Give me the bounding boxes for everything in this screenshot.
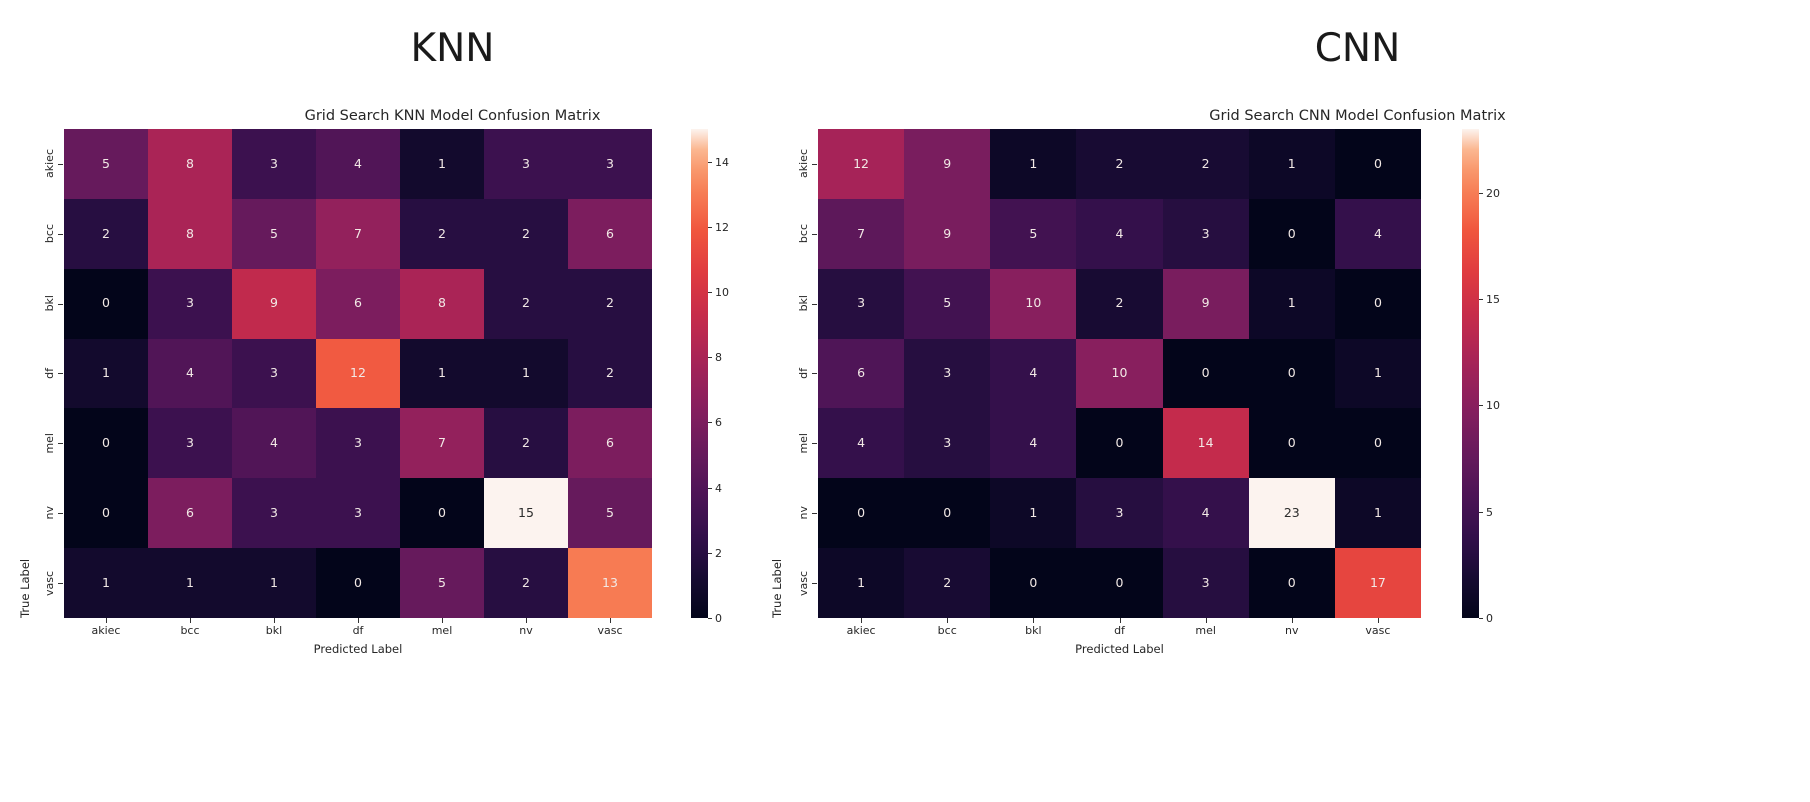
y-tick-label: vasc	[43, 571, 56, 596]
x-tick-label-nv: nv	[484, 624, 568, 637]
colorbar-tick-label: 15	[1486, 293, 1500, 306]
colorbar-tick-mark	[708, 292, 712, 293]
heatmap-cell: 15	[484, 478, 568, 548]
heatmap-cell-value: 1	[1288, 297, 1296, 310]
heatmap-cell-value: 4	[1374, 228, 1382, 241]
heatmap-cell-value: 6	[186, 507, 194, 520]
panel-heading-knn: KNN	[0, 26, 905, 71]
heatmap-cell: 2	[484, 199, 568, 269]
heatmap-cell: 0	[1335, 269, 1421, 339]
heatmap-cell-value: 3	[186, 437, 194, 450]
heatmap-cell: 3	[484, 129, 568, 199]
colorbar-tick: 4	[708, 482, 722, 495]
colorbar-tick: 20	[1479, 187, 1500, 200]
heatmap-cell-value: 2	[1116, 158, 1124, 171]
x-tick-mark	[358, 618, 359, 623]
heatmap-cell-value: 3	[943, 437, 951, 450]
x-tick-label-df: df	[1076, 624, 1162, 637]
heatmap-cell-value: 9	[943, 228, 951, 241]
heatmap-cell-value: 2	[438, 228, 446, 241]
x-tick-mark	[861, 618, 862, 623]
heatmap-cell-value: 2	[943, 577, 951, 590]
heatmap-cell-value: 2	[522, 577, 530, 590]
colorbar-tick-label: 20	[1486, 187, 1500, 200]
heatmap-cell: 3	[148, 269, 232, 339]
heatmap-cell-value: 9	[1202, 297, 1210, 310]
heatmap-cell-value: 7	[857, 228, 865, 241]
heatmap-cell: 3	[1163, 199, 1249, 269]
y-tick-label: bcc	[43, 224, 56, 243]
heatmap-cell: 0	[316, 548, 400, 618]
heatmap-cell-value: 1	[1029, 507, 1037, 520]
x-tick-mark	[442, 618, 443, 623]
heatmap-cell: 3	[1163, 548, 1249, 618]
colorbar-tick-label: 0	[715, 612, 722, 625]
heatmap-cell-value: 2	[522, 437, 530, 450]
heatmap-cell-value: 4	[270, 437, 278, 450]
colorbar-tick-label: 0	[1486, 612, 1493, 625]
heatmap-cell: 3	[904, 408, 990, 478]
colorbar-tick-mark	[1479, 193, 1483, 194]
x-tick-label-vasc: vasc	[568, 624, 652, 637]
heatmap-cell-value: 23	[1284, 507, 1300, 520]
heatmap-cell-value: 8	[186, 158, 194, 171]
heatmap-cell: 3	[818, 269, 904, 339]
heatmap-cell: 0	[990, 548, 1076, 618]
heatmap-cell-value: 0	[1374, 297, 1382, 310]
heatmap-cell: 1	[990, 129, 1076, 199]
heatmap-cell: 1	[1335, 339, 1421, 409]
heatmap-cell-value: 8	[186, 228, 194, 241]
heatmap-cell: 2	[400, 199, 484, 269]
heatmap-cell-value: 1	[1374, 507, 1382, 520]
heatmap-cell-value: 2	[102, 228, 110, 241]
heatmap-cell: 1	[64, 548, 148, 618]
heatmap-cell-value: 1	[102, 577, 110, 590]
heatmap-cell-value: 5	[943, 297, 951, 310]
heatmap-cell-value: 0	[1288, 577, 1296, 590]
colorbar-tick-label: 10	[715, 286, 729, 299]
heatmap-cell: 7	[818, 199, 904, 269]
heatmap-cell-value: 6	[606, 437, 614, 450]
heatmap-cell-value: 8	[438, 297, 446, 310]
heatmap-cell: 9	[1163, 269, 1249, 339]
colorbar-knn: 02468101214	[691, 129, 708, 618]
heatmap-cell: 4	[232, 408, 316, 478]
heatmap-cell-value: 6	[857, 367, 865, 380]
y-tick-label: akiec	[43, 149, 56, 178]
heatmap-cell-value: 5	[270, 228, 278, 241]
heatmap-cell: 13	[568, 548, 652, 618]
heatmap-cell: 8	[400, 269, 484, 339]
x-tick-label-mel: mel	[400, 624, 484, 637]
panel-heading-cnn: CNN	[905, 26, 1810, 71]
heatmap-cell-value: 0	[1288, 228, 1296, 241]
colorbar-tick-label: 8	[715, 351, 722, 364]
y-tick-mark	[58, 234, 63, 235]
heatmap-cell-value: 3	[270, 507, 278, 520]
heatmap-cell: 6	[316, 269, 400, 339]
heatmap-cell: 10	[990, 269, 1076, 339]
x-tick-label-df: df	[316, 624, 400, 637]
heatmap-cell-value: 6	[606, 228, 614, 241]
y-tick-label: nv	[43, 506, 56, 519]
heatmap-cell: 4	[316, 129, 400, 199]
heatmap-cell-value: 10	[1112, 367, 1128, 380]
heatmap-cell-value: 6	[354, 297, 362, 310]
colorbar-tick-mark	[1479, 512, 1483, 513]
x-tick-mark	[526, 618, 527, 623]
colorbar-tick: 10	[708, 286, 729, 299]
heatmap-cell: 9	[904, 129, 990, 199]
colorbar-tick-mark	[708, 357, 712, 358]
heatmap-cell-value: 12	[853, 158, 869, 171]
colorbar-tick: 2	[708, 547, 722, 560]
heatmap-cell: 0	[1076, 548, 1162, 618]
heatmap-cell: 4	[990, 339, 1076, 409]
heatmap-cell-value: 3	[1202, 228, 1210, 241]
heatmap-cell: 8	[148, 199, 232, 269]
heatmap-cell-value: 1	[1374, 367, 1382, 380]
heatmap-cell: 3	[316, 408, 400, 478]
heatmap-cell: 3	[904, 339, 990, 409]
heatmap-cell: 4	[1335, 199, 1421, 269]
heatmap-cell-value: 9	[270, 297, 278, 310]
heatmap-cell-value: 10	[1025, 297, 1041, 310]
heatmap-cell-value: 1	[1288, 158, 1296, 171]
heatmap-cell: 17	[1335, 548, 1421, 618]
heatmap-cell: 0	[1335, 129, 1421, 199]
heatmap-cell: 1	[400, 339, 484, 409]
colorbar-tick-label: 4	[715, 482, 722, 495]
heatmap-cell: 23	[1249, 478, 1335, 548]
x-tick-label-bcc: bcc	[904, 624, 990, 637]
x-tick-mark	[190, 618, 191, 623]
colorbar-tick-label: 5	[1486, 506, 1493, 519]
heatmap-cell: 2	[484, 548, 568, 618]
heatmap-cell: 5	[990, 199, 1076, 269]
heatmap-cell: 2	[568, 269, 652, 339]
heatmap-cell: 3	[232, 129, 316, 199]
heatmap-cell-value: 4	[1029, 367, 1037, 380]
heatmap-cell: 0	[1335, 408, 1421, 478]
y-tick-mark	[58, 304, 63, 305]
heatmap-cell: 3	[232, 339, 316, 409]
heatmap-cell: 12	[316, 339, 400, 409]
colorbar-tick-mark	[1479, 299, 1483, 300]
colorbar-tick: 5	[1479, 506, 1493, 519]
heatmap-cell-value: 3	[354, 507, 362, 520]
heatmap-cell-value: 4	[354, 158, 362, 171]
heatmap-cell: 6	[568, 408, 652, 478]
heatmap-cell: 4	[1163, 478, 1249, 548]
x-tick-label-akiec: akiec	[64, 624, 148, 637]
colorbar-tick-mark	[708, 227, 712, 228]
heatmap-cell: 2	[1076, 269, 1162, 339]
heatmap-cell-value: 0	[943, 507, 951, 520]
colorbar-tick-mark	[708, 422, 712, 423]
y-tick-label: bkl	[43, 295, 56, 311]
heatmap-cell-value: 2	[522, 228, 530, 241]
colorbar-tick-mark	[708, 162, 712, 163]
heatmap-cell-value: 0	[857, 507, 865, 520]
x-tick-label-nv: nv	[1249, 624, 1335, 637]
heatmap-cell: 3	[1076, 478, 1162, 548]
heatmap-cell-value: 4	[1029, 437, 1037, 450]
colorbar-tick: 14	[708, 156, 729, 169]
heatmap-cell-value: 3	[522, 158, 530, 171]
heatmap-cell-value: 0	[1202, 367, 1210, 380]
heatmap-cell: 2	[1163, 129, 1249, 199]
colorbar-tick-label: 2	[715, 547, 722, 560]
y-tick-label: mel	[43, 433, 56, 454]
heatmap-cell-value: 0	[1116, 577, 1124, 590]
heatmap-cell-value: 2	[606, 297, 614, 310]
heatmap-cell-value: 7	[438, 437, 446, 450]
heatmap-cell: 4	[990, 408, 1076, 478]
heatmap-cell-value: 0	[102, 507, 110, 520]
colorbar-tick-mark	[1479, 618, 1483, 619]
heatmap-cell: 0	[818, 478, 904, 548]
x-axis-title-cnn: Predicted Label	[818, 642, 1421, 656]
heatmap-cell-value: 0	[1029, 577, 1037, 590]
heatmap-cell-value: 1	[1029, 158, 1037, 171]
colorbar-tick-mark	[708, 488, 712, 489]
heatmap-cell: 0	[64, 269, 148, 339]
colorbar-tick: 12	[708, 221, 729, 234]
heatmap-cell: 1	[1335, 478, 1421, 548]
heatmap-cell: 2	[64, 199, 148, 269]
heatmap-cell-value: 1	[438, 367, 446, 380]
colorbar-tick-label: 14	[715, 156, 729, 169]
heatmap-cell: 2	[1076, 129, 1162, 199]
heatmap-cell-value: 4	[857, 437, 865, 450]
heatmap-cell: 10	[1076, 339, 1162, 409]
plot-title-knn: Grid Search KNN Model Confusion Matrix	[0, 108, 905, 124]
x-tick-mark	[106, 618, 107, 623]
heatmap-cell-value: 2	[522, 297, 530, 310]
colorbar-cnn: 05101520	[1462, 129, 1479, 618]
heatmap-cell-value: 0	[1288, 367, 1296, 380]
colorbar-tick-label: 10	[1486, 399, 1500, 412]
x-tick-mark	[1378, 618, 1379, 623]
x-tick-label-mel: mel	[1163, 624, 1249, 637]
heatmap-cell-value: 17	[1370, 577, 1386, 590]
heatmap-cell: 4	[818, 408, 904, 478]
heatmap-cell-value: 4	[186, 367, 194, 380]
heatmap-cell: 5	[568, 478, 652, 548]
heatmap-cell-value: 0	[1288, 437, 1296, 450]
y-tick-mark	[58, 164, 63, 165]
heatmap-cell: 0	[400, 478, 484, 548]
heatmap-cell: 5	[904, 269, 990, 339]
heatmap-cell: 2	[484, 408, 568, 478]
heatmap-cell-value: 2	[1202, 158, 1210, 171]
heatmap-cell-value: 1	[522, 367, 530, 380]
colorbar-tick-mark	[708, 618, 712, 619]
heatmap-cell-value: 3	[270, 367, 278, 380]
heatmap-cell: 0	[1249, 199, 1335, 269]
heatmap-cell: 0	[1249, 408, 1335, 478]
heatmap-cell-value: 12	[350, 367, 366, 380]
heatmap-cell-value: 1	[102, 367, 110, 380]
heatmap-cell: 5	[232, 199, 316, 269]
y-tick-mark	[58, 373, 63, 374]
heatmap-cell: 1	[990, 478, 1076, 548]
colorbar-tick: 0	[1479, 612, 1493, 625]
heatmap-cell: 4	[1076, 199, 1162, 269]
heatmap-cell: 12	[818, 129, 904, 199]
heatmap-cell: 2	[484, 269, 568, 339]
heatmap-cell: 8	[148, 129, 232, 199]
y-axis-title-cnn: True Label	[770, 129, 784, 618]
y-tick-label: df	[43, 368, 56, 379]
heatmap-cell: 0	[904, 478, 990, 548]
heatmap-knn: akiecbccbkldfmelnvvasc akiecbccbkldfmeln…	[64, 129, 652, 618]
heatmap-cell-value: 0	[102, 437, 110, 450]
heatmap-cell: 0	[1076, 408, 1162, 478]
x-tick-mark	[274, 618, 275, 623]
x-tick-label-akiec: akiec	[818, 624, 904, 637]
x-tick-label-bkl: bkl	[990, 624, 1076, 637]
x-tick-mark	[1120, 618, 1121, 623]
heatmap-cell: 14	[1163, 408, 1249, 478]
colorbar-tick: 8	[708, 351, 722, 364]
heatmap-cell-value: 5	[606, 507, 614, 520]
colorbar-gradient-knn	[691, 129, 708, 618]
heatmap-cell: 2	[904, 548, 990, 618]
heatmap-cell: 1	[232, 548, 316, 618]
heatmap-cell: 7	[400, 408, 484, 478]
heatmap-cell: 7	[316, 199, 400, 269]
heatmap-cell: 5	[64, 129, 148, 199]
heatmap-cell: 3	[316, 478, 400, 548]
colorbar-tick-label: 6	[715, 416, 722, 429]
heatmap-cell: 0	[1249, 548, 1335, 618]
heatmap-cell-value: 3	[186, 297, 194, 310]
x-tick-mark	[1292, 618, 1293, 623]
heatmap-cell: 0	[1249, 339, 1335, 409]
heatmap-cell: 3	[568, 129, 652, 199]
heatmap-cell-value: 4	[1116, 228, 1124, 241]
colorbar-gradient-cnn	[1462, 129, 1479, 618]
heatmap-cell: 6	[148, 478, 232, 548]
heatmap-cell-value: 1	[857, 577, 865, 590]
x-tick-label-bcc: bcc	[148, 624, 232, 637]
heatmap-cell: 1	[400, 129, 484, 199]
heatmap-cell-value: 0	[354, 577, 362, 590]
heatmap-cell: 1	[64, 339, 148, 409]
heatmap-cell-value: 2	[606, 367, 614, 380]
panel-cnn: CNN Grid Search CNN Model Confusion Matr…	[905, 0, 1810, 802]
heatmap-cell-value: 1	[270, 577, 278, 590]
heatmap-cell-value: 13	[602, 577, 618, 590]
heatmap-cell-value: 5	[1029, 228, 1037, 241]
heatmap-cell-value: 14	[1198, 437, 1214, 450]
colorbar-tick: 6	[708, 416, 722, 429]
heatmap-cell-value: 0	[438, 507, 446, 520]
y-tick-mark	[58, 443, 63, 444]
heatmap-cell-value: 0	[1374, 158, 1382, 171]
heatmap-cell: 4	[148, 339, 232, 409]
heatmap-cell: 1	[1249, 129, 1335, 199]
heatmap-cell-value: 3	[354, 437, 362, 450]
colorbar-tick: 0	[708, 612, 722, 625]
colorbar-tick: 15	[1479, 293, 1500, 306]
x-tick-mark	[1206, 618, 1207, 623]
figure-canvas: KNN Grid Search KNN Model Confusion Matr…	[0, 0, 1810, 802]
heatmap-cnn: akiecbccbkldfmelnvvasc akiecbccbkldfmeln…	[818, 129, 1421, 618]
colorbar-tick-label: 12	[715, 221, 729, 234]
heatmap-cell: 0	[64, 478, 148, 548]
y-tick-mark	[58, 513, 63, 514]
heatmap-cell: 3	[148, 408, 232, 478]
heatmap-cell-value: 2	[1116, 297, 1124, 310]
heatmap-cell-value: 5	[102, 158, 110, 171]
y-axis-title-knn: True Label	[18, 129, 32, 618]
x-tick-mark	[610, 618, 611, 623]
heatmap-cell: 0	[64, 408, 148, 478]
heatmap-cell: 1	[148, 548, 232, 618]
heatmap-cell-value: 0	[102, 297, 110, 310]
x-tick-mark	[1033, 618, 1034, 623]
heatmap-cell: 1	[1249, 269, 1335, 339]
heatmap-cell-value: 4	[1202, 507, 1210, 520]
heatmap-cell: 3	[232, 478, 316, 548]
heatmap-cell-value: 3	[1116, 507, 1124, 520]
plot-title-cnn: Grid Search CNN Model Confusion Matrix	[905, 108, 1810, 124]
y-tick-mark	[58, 583, 63, 584]
heatmap-cell: 1	[484, 339, 568, 409]
heatmap-cell: 0	[1163, 339, 1249, 409]
heatmap-cell-value: 5	[438, 577, 446, 590]
heatmap-cell-value: 9	[943, 158, 951, 171]
heatmap-cell-value: 3	[606, 158, 614, 171]
heatmap-cell: 6	[818, 339, 904, 409]
x-axis-title-knn: Predicted Label	[64, 642, 652, 656]
heatmap-cell: 9	[232, 269, 316, 339]
colorbar-tick: 10	[1479, 399, 1500, 412]
heatmap-cell: 9	[904, 199, 990, 269]
heatmap-cell-value: 3	[857, 297, 865, 310]
heatmap-cell-value: 3	[1202, 577, 1210, 590]
x-tick-label-vasc: vasc	[1335, 624, 1421, 637]
x-tick-label-bkl: bkl	[232, 624, 316, 637]
heatmap-cell: 2	[568, 339, 652, 409]
x-tick-mark	[947, 618, 948, 623]
heatmap-cell: 5	[400, 548, 484, 618]
heatmap-cell: 6	[568, 199, 652, 269]
heatmap-cell-value: 3	[943, 367, 951, 380]
heatmap-cell-value: 7	[354, 228, 362, 241]
colorbar-tick-mark	[1479, 405, 1483, 406]
heatmap-cell-value: 1	[186, 577, 194, 590]
heatmap-cell-value: 0	[1374, 437, 1382, 450]
heatmap-cell-value: 3	[270, 158, 278, 171]
heatmap-cell: 1	[818, 548, 904, 618]
colorbar-tick-mark	[708, 553, 712, 554]
heatmap-cell-value: 1	[438, 158, 446, 171]
heatmap-cell-value: 15	[518, 507, 534, 520]
heatmap-cell-value: 0	[1116, 437, 1124, 450]
